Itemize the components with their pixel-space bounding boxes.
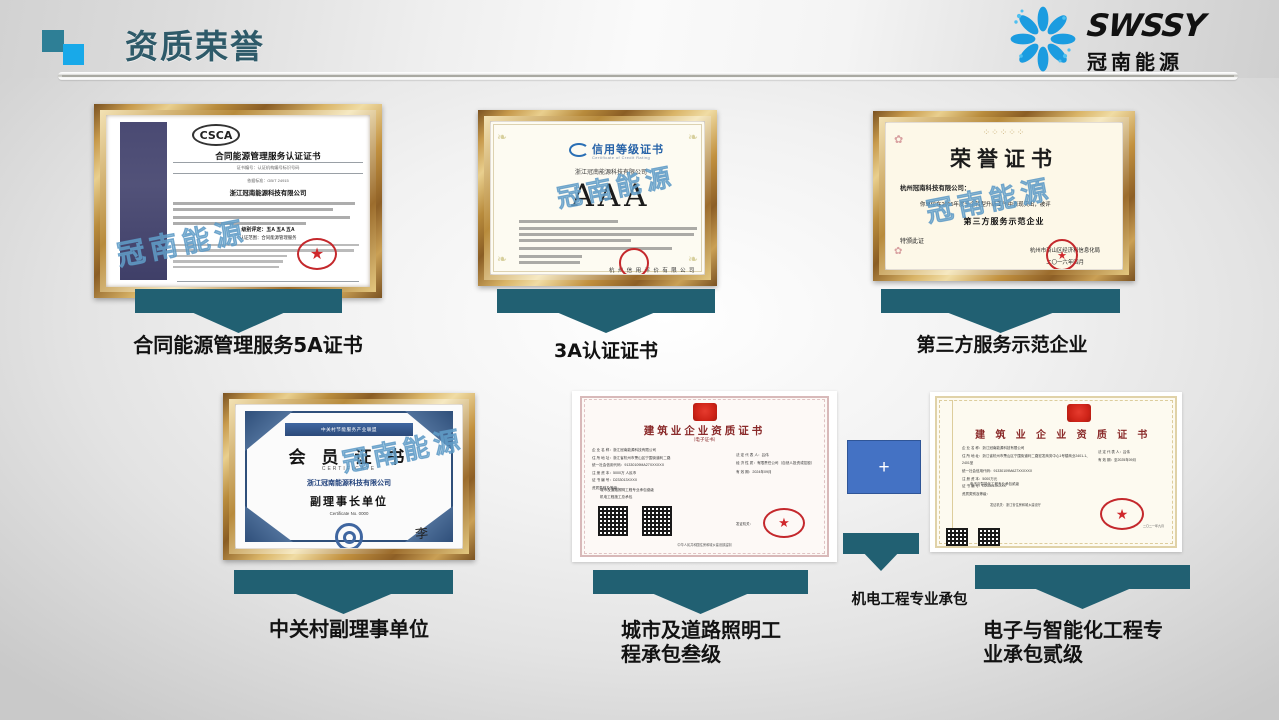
qr-code-icon: [598, 506, 628, 536]
pointer-arrow-4: [234, 570, 453, 614]
slide-header: 资质荣誉: [0, 0, 1279, 92]
logo-subtext: 冠南能源: [1087, 46, 1205, 75]
certificate-subtitle: （电子证书）: [586, 437, 823, 443]
certificate-fields: 企 业 名 称：浙江冠南能源科技有限公司 住 所 地 址：浙江省杭州市萧山区宁围…: [962, 445, 1092, 499]
certificate-image-third-party-service-demo-enterprise[interactable]: ⁘⁘⁘⁘⁘ ✿ ✿ 荣誉证书 杭州冠南科技有限公司： 你单位在2015年度千企转…: [873, 111, 1135, 281]
pointer-arrow-6: [975, 565, 1190, 609]
certificate-banner: 中关村节能服务产业联盟: [285, 423, 413, 436]
national-emblem-icon: [693, 403, 717, 421]
swssy-droplet-burst-logo: [1007, 6, 1079, 72]
company-logo: SWSSY 冠南能源: [1007, 6, 1267, 72]
certificate-footer: 中华人民共和国住房和城乡建设部监制: [586, 542, 823, 547]
certificate-caption-3: 第三方服务示范企业: [872, 334, 1132, 357]
certificate-fields: 企 业 名 称：浙江冠南能源科技有限公司 住 所 地 址：浙江省杭州市萧山区宁围…: [592, 447, 732, 492]
top-flourish-icon: ⁘⁘⁘⁘⁘: [983, 127, 1026, 138]
certificate-award: 副理事长单位: [236, 493, 462, 509]
certificate-org: 浙江冠南能源科技有限公司: [531, 167, 691, 176]
pointer-arrow-3: [881, 289, 1120, 333]
certificate-scope: 电子与智能化工程专业承包贰级: [970, 482, 1019, 487]
certificate-body: [519, 220, 699, 264]
csca-badge-icon: CSCA: [192, 124, 240, 146]
certificate-caption-4: 中关村副理事单位: [224, 617, 474, 641]
blue-medal-seal-icon: [335, 523, 363, 548]
certificate-org: 浙江冠南能源科技有限公司: [236, 478, 462, 488]
rule: [173, 162, 363, 163]
certificate-date: 二〇二一年九月: [1143, 524, 1164, 528]
certificate-paper: 建筑业企业资质证书 （电子证书） 企 业 名 称：浙江冠南能源科技有限公司 住 …: [586, 401, 823, 552]
red-round-seal-icon: ★: [1046, 239, 1078, 269]
certificate-scope: 城市及道路照明工程专业承包叁级 机电工程施工总承包: [600, 487, 654, 501]
certificate-issue-label: 发证机关：浙江省住房和城乡建设厅: [990, 502, 1041, 507]
certificate-subline: 证书编号：认证机构编号标识号码: [173, 165, 363, 171]
certificate-paper: 中关村节能服务产业联盟 会 员 证 书 CERTIFICATE 浙江冠南能源科技…: [236, 405, 462, 548]
certificate-grade: 级别评定：五A 五A 五A: [173, 226, 363, 233]
corner-flourish-icon: ❧: [497, 252, 507, 266]
certificate-note: 特颁此证: [900, 236, 924, 245]
certificate-note: Certificate No. 0000: [236, 511, 462, 516]
pointer-arrow-7: [843, 533, 919, 571]
certificate-caption-7: 机电工程专业承包: [822, 592, 997, 610]
pointer-arrow-5: [593, 570, 808, 614]
side-panel: [120, 122, 167, 280]
red-star-seal-icon: ★: [297, 238, 337, 270]
certificate-paper: ⁘⁘⁘⁘⁘ ✿ ✿ 荣誉证书 杭州冠南科技有限公司： 你单位在2015年度千企转…: [886, 123, 1122, 269]
pointer-arrow-1: [135, 289, 342, 333]
certificate-image-electronic-intelligent-engineering-grade2[interactable]: 建 筑 业 企 业 资 质 证 书 企 业 名 称：浙江冠南能源科技有限公司 住…: [930, 392, 1182, 552]
rule: [177, 281, 359, 282]
certificate-paper: CSCA 合同能源管理服务认证证书 证书编号：认证机构编号标识号码 依据标准：G…: [107, 116, 369, 286]
certificate-title: 建筑业企业资质证书: [586, 423, 823, 438]
certificate-caption-5: 城市及道路照明工 程承包叁级: [621, 618, 851, 667]
signature: 李: [414, 522, 429, 542]
logo-text-block: SWSSY 冠南能源: [1087, 8, 1205, 75]
certificate-subtitle: Certificate of Credit Rating: [592, 155, 650, 160]
certificate-caption-1: 合同能源管理服务5A证书: [98, 333, 398, 357]
certificate-grade: AAA: [531, 178, 691, 214]
certificate-paper: 建 筑 业 企 业 资 质 证 书 企 业 名 称：浙江冠南能源科技有限公司 住…: [956, 402, 1170, 542]
red-star-oval-seal-icon: ★: [1100, 498, 1144, 530]
logo-wordmark: SWSSY: [1085, 8, 1206, 44]
rule: [173, 173, 363, 174]
certificate-image-contract-energy-management-5a[interactable]: CSCA 合同能源管理服务认证证书 证书编号：认证机构编号标识号码 依据标准：G…: [94, 104, 382, 298]
certificate-body: [173, 202, 363, 225]
certificate-right-fields: 法 定 代 表 人：吕伟 经 济 性 质：有限责任公司（自然人投资或控股） 有 …: [736, 451, 823, 476]
certificate-title: 会 员 证 书: [236, 443, 462, 468]
certificate-scope: 认证范围：合同能源管理服务: [173, 235, 363, 241]
pointer-arrow-2: [497, 289, 715, 333]
national-emblem-icon: [1067, 404, 1091, 422]
certificate-paper: ❧ ❧ ❧ ❧ 信用等级证书 Certificate of Credit Rat…: [491, 122, 704, 274]
spine-line: [952, 400, 953, 544]
red-round-seal-icon: [619, 248, 649, 274]
certificate-org: 浙江冠南能源科技有限公司: [173, 188, 363, 197]
certificate-award: 第三方服务示范企业: [886, 216, 1122, 227]
corner-flourish-icon: ❧: [688, 130, 698, 144]
header-square-bright-icon: [63, 44, 84, 65]
certificate-image-zhongguancun-vice-director-member[interactable]: 中关村节能服务产业联盟 会 员 证 书 CERTIFICATE 浙江冠南能源科技…: [223, 393, 475, 560]
certificate-subtitle: CERTIFICATE: [236, 466, 462, 472]
qr-code-icon: [978, 528, 1000, 546]
corner-flower-icon: ✿: [894, 246, 902, 257]
certificate-image-aaa-credit-rating[interactable]: ❧ ❧ ❧ ❧ 信用等级证书 Certificate of Credit Rat…: [478, 110, 717, 286]
certificate-issue-label: 发证机关：: [736, 521, 753, 526]
header-square-dark-icon: [42, 30, 64, 52]
add-button[interactable]: +: [847, 440, 921, 494]
qr-code-icon: [946, 528, 968, 546]
certificate-caption-6: 电子与智能化工程专 业承包贰级: [983, 618, 1213, 667]
certificate-title: 荣誉证书: [886, 143, 1122, 173]
certificate-title: 建 筑 业 企 业 资 质 证 书: [956, 426, 1170, 441]
certificate-number: 依据标准：GB/T 24915: [173, 178, 363, 184]
certificate-org: 杭州冠南科技有限公司：: [900, 183, 970, 192]
plus-icon: +: [878, 458, 889, 477]
certificate-image-urban-road-lighting-grade3[interactable]: 建筑业企业资质证书 （电子证书） 企 业 名 称：浙江冠南能源科技有限公司 住 …: [572, 391, 837, 562]
credit-logo-icon: [569, 143, 589, 157]
page-title: 资质荣誉: [125, 20, 265, 68]
header-divider: [58, 72, 1238, 80]
certificate-caption-2: 3A认证证书: [486, 340, 726, 363]
certificate-title: 合同能源管理服务认证证书: [173, 150, 363, 162]
certificate-right-fields: 法 定 代 表 人：吕伟 有 效 期：至2025年09月: [1098, 448, 1170, 465]
red-star-oval-seal-icon: ★: [763, 508, 805, 538]
certificate-body: 你单位在2015年度千企转型升级工作中表现突出，被评: [920, 200, 1051, 208]
qr-code-icon: [642, 506, 672, 536]
corner-flourish-icon: ❧: [497, 130, 507, 144]
